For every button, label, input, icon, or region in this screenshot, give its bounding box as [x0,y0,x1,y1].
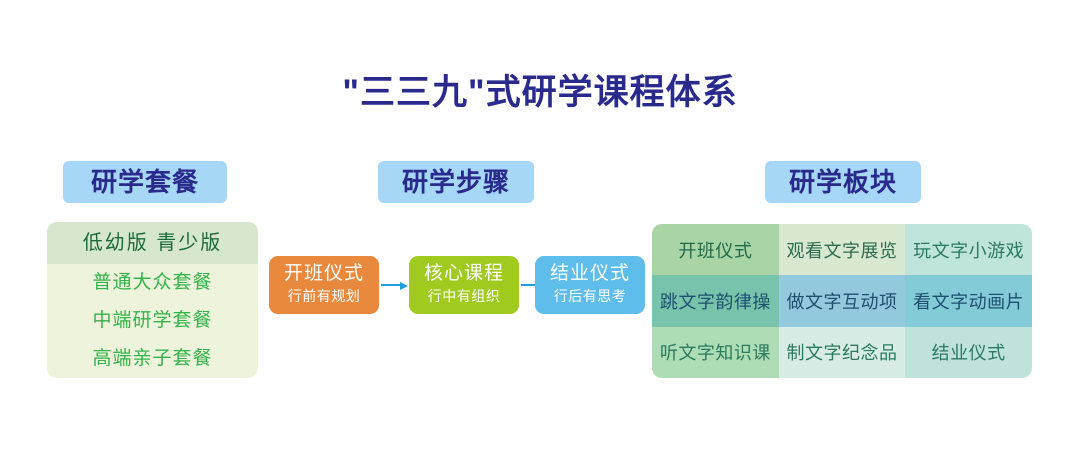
sections-grid: 开班仪式 观看文字展览 玩文字小游戏 跳文字韵律操 做文字互动项 看文字动画片 … [652,224,1032,378]
step-subtitle: 行后有思考 [535,286,645,306]
section-header-packages: 研学套餐 [63,161,227,203]
arrow-head [400,282,408,290]
list-item[interactable]: 普通大众套餐 [47,264,258,302]
step-title: 开班仪式 [269,261,379,286]
list-item[interactable]: 高端亲子套餐 [47,340,258,378]
arrow-right-icon [381,282,408,288]
packages-subheader: 低幼版 青少版 [47,222,258,264]
step-title: 结业仪式 [535,261,645,286]
section-header-sections: 研学板块 [765,161,921,203]
grid-cell[interactable]: 做文字互动项 [779,275,906,326]
grid-cell[interactable]: 跳文字韵律操 [652,275,779,326]
grid-cell[interactable]: 开班仪式 [652,224,779,275]
step-box[interactable]: 核心课程 行中有组织 [409,256,519,314]
grid-cell[interactable]: 看文字动画片 [905,275,1032,326]
page-title: "三三九"式研学课程体系 [0,72,1080,114]
packages-card: 低幼版 青少版 普通大众套餐 中端研学套餐 高端亲子套餐 [47,222,258,378]
grid-cell[interactable]: 听文字知识课 [652,327,779,378]
list-item[interactable]: 中端研学套餐 [47,302,258,340]
grid-cell[interactable]: 制文字纪念品 [779,327,906,378]
section-header-steps: 研学步骤 [378,161,534,203]
step-box[interactable]: 开班仪式 行前有规划 [269,256,379,314]
step-box[interactable]: 结业仪式 行后有思考 [535,256,645,314]
grid-cell[interactable]: 玩文字小游戏 [905,224,1032,275]
step-title: 核心课程 [409,261,519,286]
step-subtitle: 行前有规划 [269,286,379,306]
grid-cell[interactable]: 结业仪式 [905,327,1032,378]
grid-cell[interactable]: 观看文字展览 [779,224,906,275]
arrow-shaft [381,284,400,286]
step-subtitle: 行中有组织 [409,286,519,306]
